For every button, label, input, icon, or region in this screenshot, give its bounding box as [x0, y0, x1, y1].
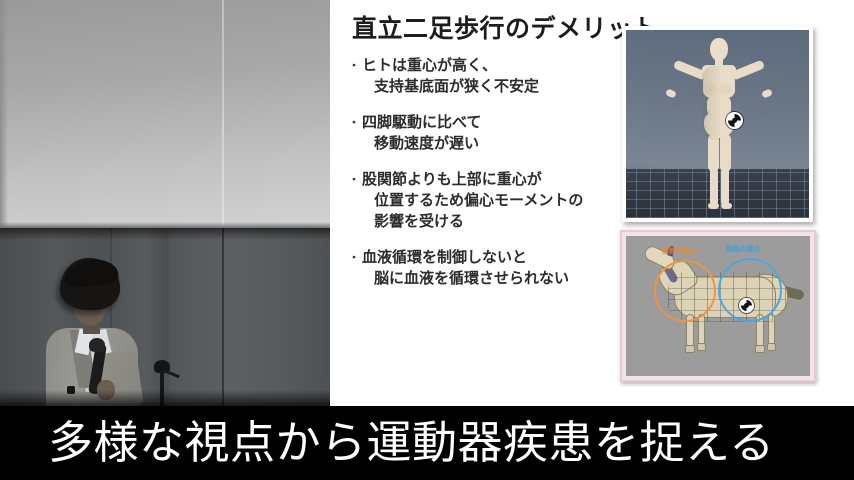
human-model-scene	[626, 30, 809, 218]
bullet-item-4: ・ 血液循環を制御しないと 脳に血液を循環させられない	[346, 247, 646, 289]
bullet-marker-icon: ・	[346, 169, 362, 232]
presenter-video	[0, 228, 330, 406]
microphone-head	[89, 338, 105, 352]
center-of-mass-marker	[739, 298, 754, 313]
human-mannequin	[658, 38, 778, 210]
bullet-marker-icon: ・	[346, 112, 362, 154]
bullet-item-3: ・ 股関節よりも上部に重心が 位置するため偏心モーメントの 影響を受ける	[346, 169, 646, 232]
bullet-item-2: ・ 四脚駆動に比べて 移動速度が遅い	[346, 112, 646, 154]
horse-hoof-3	[755, 345, 765, 353]
stand-mic-arm	[162, 369, 180, 379]
wall-seam-1	[222, 228, 224, 406]
bullet-line: 位置するため偏心モーメントの	[362, 190, 646, 211]
caption-text: 多様な視点から運動器疾患を捉える	[48, 412, 775, 474]
bullet-item-1: ・ ヒトは重心が高く、 支持基底面が狭く不安定	[346, 55, 646, 97]
bullet-text-4: 血液循環を制御しないと 脳に血液を循環させられない	[362, 247, 646, 289]
bullet-line: 支持基底面が狭く不安定	[362, 76, 646, 97]
video-player-stage: 直立二足歩行のデメリット ・ ヒトは重心が高く、 支持基底面が狭く不安定 ・ 四…	[0, 0, 854, 480]
horse-hoof-4	[767, 343, 776, 351]
bullet-text-1: ヒトは重心が高く、 支持基底面が狭く不安定	[362, 55, 646, 97]
mannequin-foot-left	[708, 203, 719, 209]
video-upper-blank	[0, 0, 330, 228]
presentation-slide: 直立二足歩行のデメリット ・ ヒトは重心が高く、 支持基底面が狭く不安定 ・ 四…	[330, 0, 854, 406]
bullet-line: 血液循環を制御しないと	[362, 247, 646, 268]
bullet-line: ヒトは重心が高く、	[362, 55, 646, 76]
horse-model-scene: 前肢の重心 後肢の重心	[626, 236, 810, 376]
presenter-video-column	[0, 0, 330, 406]
bullet-line: 四脚駆動に比べて	[362, 112, 646, 133]
slide-bullet-list: ・ ヒトは重心が高く、 支持基底面が狭く不安定 ・ 四脚駆動に比べて 移動速度が…	[346, 55, 646, 304]
center-of-mass-marker	[726, 112, 743, 129]
bullet-line: 脳に血液を循環させられない	[362, 268, 646, 289]
figure-human-body-model	[622, 26, 813, 222]
bullet-text-2: 四脚駆動に比べて 移動速度が遅い	[362, 112, 646, 154]
mannequin-hand-right	[761, 88, 773, 98]
bullet-text-3: 股関節よりも上部に重心が 位置するため偏心モーメントの 影響を受ける	[362, 169, 646, 232]
bullet-line: 移動速度が遅い	[362, 133, 646, 154]
mannequin-shading	[702, 66, 736, 140]
caption-bar: 多様な視点から運動器疾患を捉える	[0, 406, 854, 480]
bullet-line: 影響を受ける	[362, 211, 646, 232]
hindlimb-com-label: 後肢の重心	[726, 244, 761, 254]
hindlimb-com-circle	[718, 258, 782, 322]
wall-top-shadow	[0, 228, 330, 240]
mannequin-shin-left	[710, 168, 718, 206]
blank-wall-seam	[222, 0, 224, 228]
bullet-marker-icon: ・	[346, 55, 362, 97]
wall-bottom-shadow	[0, 390, 330, 406]
horse-hoof-1	[685, 345, 695, 353]
forelimb-com-circle	[654, 260, 716, 322]
forelimb-com-label: 前肢の重心	[662, 246, 697, 256]
slide-title: 直立二足歩行のデメリット	[352, 9, 658, 45]
figure-horse-model: 前肢の重心 後肢の重心	[620, 230, 816, 382]
mannequin-head	[710, 38, 728, 61]
mannequin-foot-right	[721, 203, 732, 209]
mannequin-hand-left	[665, 88, 677, 98]
blank-left-edge	[0, 0, 8, 228]
horse-hoof-2	[697, 343, 706, 351]
bullet-line: 股関節よりも上部に重心が	[362, 169, 646, 190]
mannequin-shin-right	[721, 168, 729, 206]
bullet-marker-icon: ・	[346, 247, 362, 289]
